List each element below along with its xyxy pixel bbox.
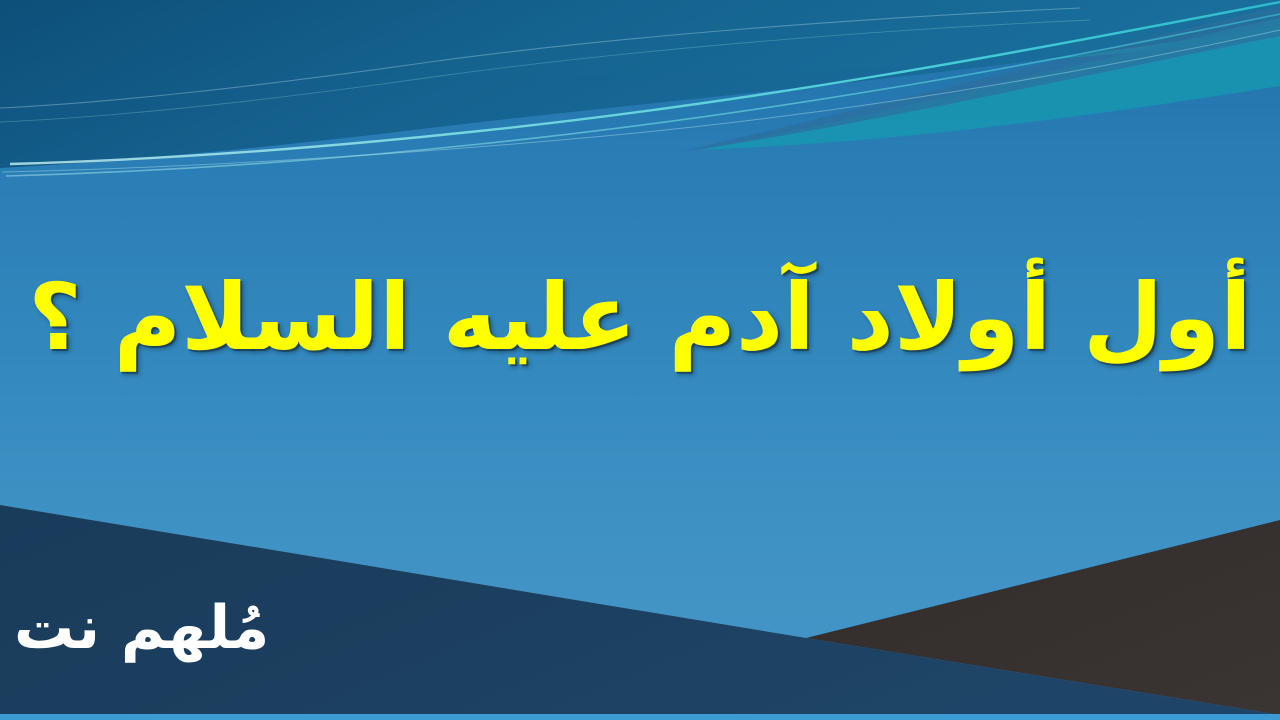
streak-line-lower-b	[0, 20, 1090, 122]
watermark-label: مُلهم نت	[14, 598, 269, 658]
page-title: أول أولاد آدم عليه السلام ؟	[28, 260, 1251, 375]
headline-container: أول أولاد آدم عليه السلام ؟	[0, 232, 1280, 402]
streak-line-tertiary	[2, 30, 1280, 172]
teal-wedge-shape	[0, 0, 1280, 104]
footer-bottom-strip	[0, 714, 1280, 720]
right-teal-ribbon-shape	[700, 18, 1280, 150]
presentation-slide: أول أولاد آدم عليه السلام ؟ مُلهم نت	[0, 0, 1280, 720]
streak-line-secondary	[6, 14, 1280, 176]
right-teal-ribbon-shadow-shape	[680, 6, 1280, 152]
dark-blue-wave-shape	[0, 0, 1280, 168]
streak-line-lower-a	[0, 8, 1080, 108]
streak-line-primary	[10, 2, 1280, 164]
footer-charcoal-triangle	[806, 520, 1280, 715]
